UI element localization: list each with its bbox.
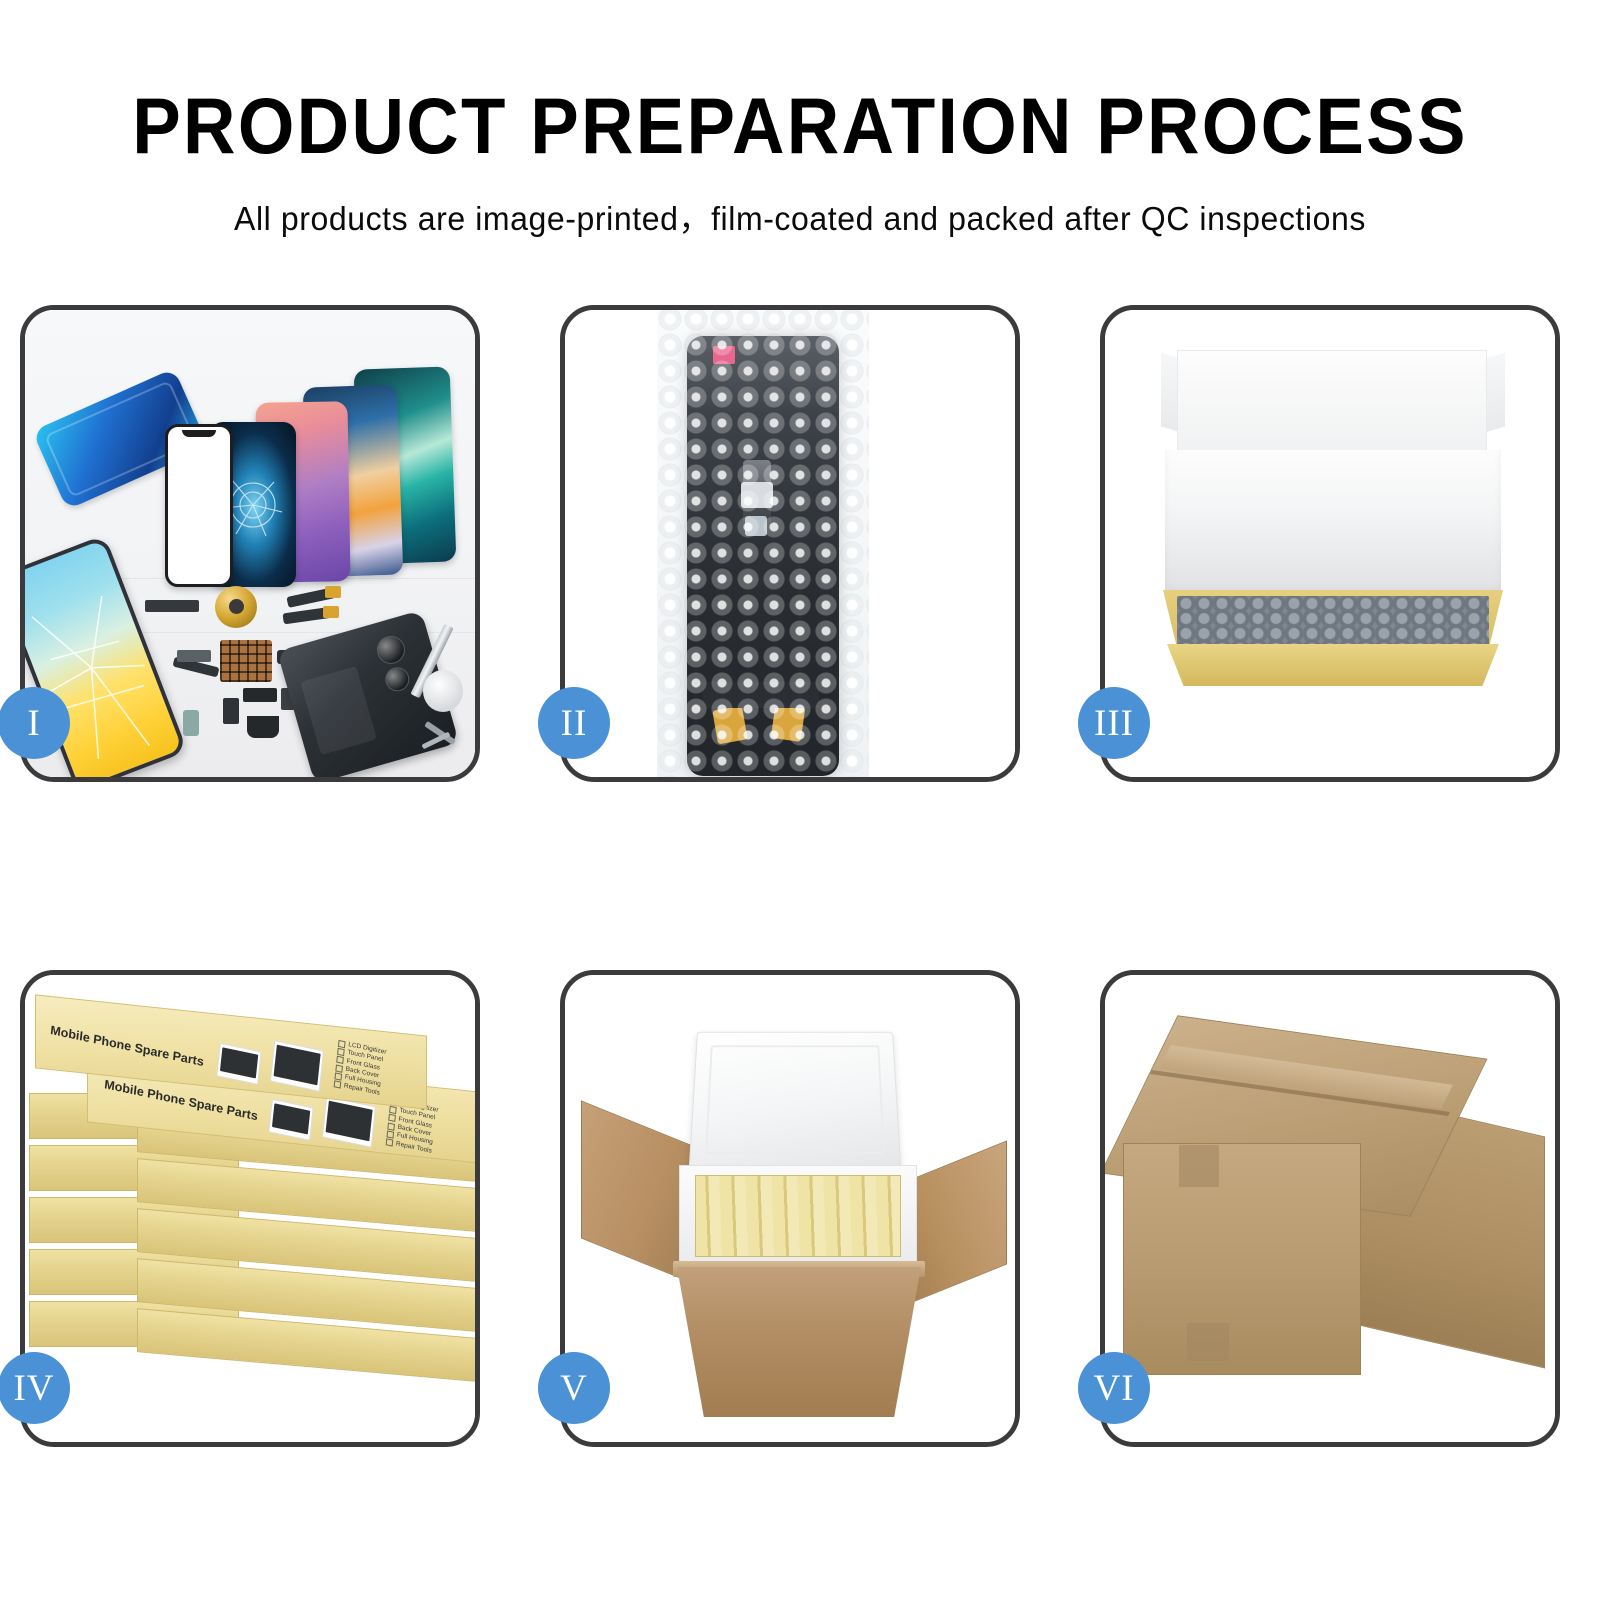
carton-front-face [1123,1143,1361,1375]
checkbox-icon [337,1048,345,1056]
camera-lens-1 [374,633,409,668]
panel-3-image [1105,310,1555,777]
vibration-motor [177,650,211,662]
panel-step-4: Mobile Phone Spare Parts LCD Digitizer T… [20,970,480,1447]
retail-box-stack: Mobile Phone Spare Parts LCD Digitizer T… [25,975,475,1442]
pink-label-tab [713,346,735,364]
panel-2-image [565,310,1015,777]
carton-tab-upper [1179,1145,1219,1187]
panel-5-image [565,975,1015,1442]
box-lid [1177,350,1487,455]
notch-shape [182,430,216,437]
panel-6-image [1105,975,1555,1442]
panel-step-5: V [560,970,1020,1447]
small-module-3 [223,698,239,724]
camera-lens-2 [382,664,412,694]
step-badge-5: V [538,1352,610,1424]
gold-boxes-inside [695,1175,901,1257]
step-badge-2: II [538,687,610,759]
checkbox-icon [386,1138,394,1146]
wireless-charging-coil [215,586,257,628]
cotton-swab [423,670,463,712]
step-badge-4: IV [0,1352,70,1424]
step-badge-6: VI [1078,1352,1150,1424]
header: PRODUCT PREPARATION PROCESS All products… [0,0,1600,240]
checkbox-icon [387,1122,395,1130]
battery-area [300,666,377,755]
retail-box-screen-image-b2 [322,1096,376,1148]
foam-sheet [1165,450,1501,596]
foam-cooler-lid [689,1032,902,1170]
gold-contact-left [712,706,747,745]
checkbox-icon [389,1106,397,1114]
gold-contact-right [771,704,805,742]
checkbox-icon [334,1072,342,1080]
bubble-wrap-filling [1177,596,1489,648]
retail-box-checklist-1: LCD Digitizer Touch Panel Front Glass Ba… [334,1039,387,1098]
panel-1-image [25,310,475,777]
panel-step-6: VI [1100,970,1560,1447]
lcd-driver-chip [745,516,767,536]
checkbox-icon [336,1056,344,1064]
page-title: PRODUCT PREPARATION PROCESS [64,86,1536,165]
lcd-bottom-bracket [703,682,819,708]
spare-parts-collage [25,310,475,777]
infographic-root: PRODUCT PREPARATION PROCESS All products… [0,0,1600,1600]
front-glass-panel [165,424,233,587]
carton-flap-left [581,1100,693,1283]
small-module-1 [243,688,277,702]
retail-box-screen-image-a1 [216,1043,261,1085]
carton-tab-lower [1187,1323,1229,1361]
checkbox-icon [386,1130,394,1138]
retail-box-brand-1: Mobile Phone Spare Parts [50,1023,205,1069]
lcd-connector [741,482,773,508]
ic-chip [220,640,272,682]
earpiece-mesh [145,600,199,612]
retail-box-screen-image-b1 [270,1040,324,1092]
retail-box-screen-image-a2 [268,1099,313,1141]
panel-step-1: I [20,305,480,782]
carton-body [677,1267,921,1417]
checkbox-icon [334,1080,342,1088]
panel-step-3: III [1100,305,1560,782]
panel-step-2: II [560,305,1020,782]
checkbox-icon [335,1064,343,1072]
checkbox-icon [388,1114,396,1122]
step-badge-3: III [1078,687,1150,759]
page-subtitle: All products are image-printed，film-coat… [24,192,1576,240]
flex-cable-gold-tab-1 [325,586,341,598]
step-badge-1: I [0,687,70,759]
kraft-box-front [1167,644,1499,686]
sim-tray [183,710,199,736]
checkbox-icon [338,1040,346,1048]
speaker-module [247,716,279,738]
flex-cable-gold-tab-2 [323,606,339,618]
panel-4-image: Mobile Phone Spare Parts LCD Digitizer T… [25,975,475,1442]
